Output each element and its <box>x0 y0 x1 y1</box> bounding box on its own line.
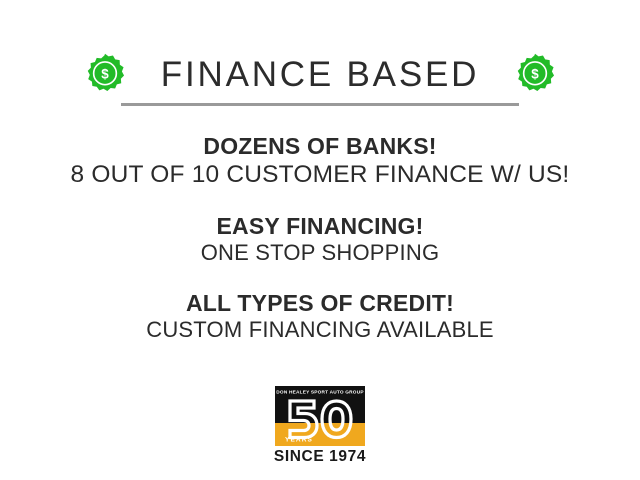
message-block-credit: ALL TYPES OF CREDIT! CUSTOM FINANCING AV… <box>0 289 640 344</box>
message-block-easy-financing: EASY FINANCING! ONE STOP SHOPPING <box>0 212 640 267</box>
anniversary-badge-graphic: DON HEALEY SPORT AUTO GROUP YEARS <box>275 386 365 446</box>
block-heading: EASY FINANCING! <box>0 212 640 240</box>
svg-text:$: $ <box>531 67 539 82</box>
finance-based-slide: $ FINANCE BASED $ DOZENS OF BANKS! 8 OUT… <box>0 0 640 480</box>
block-heading: ALL TYPES OF CREDIT! <box>0 289 640 317</box>
block-heading: DOZENS OF BANKS! <box>0 132 640 160</box>
title-divider <box>121 103 519 106</box>
badge-years-label: YEARS <box>285 437 313 444</box>
dealer-logo: DON HEALEY SPORT AUTO GROUP YEARS SINCE … <box>0 386 640 465</box>
block-subline: ONE STOP SHOPPING <box>0 240 640 267</box>
block-subline: CUSTOM FINANCING AVAILABLE <box>0 317 640 344</box>
message-block-banks: DOZENS OF BANKS! 8 OUT OF 10 CUSTOMER FI… <box>0 132 640 190</box>
anniversary-badge: DON HEALEY SPORT AUTO GROUP YEARS <box>275 386 365 446</box>
since-text: SINCE 1974 <box>274 449 366 465</box>
block-subline: 8 OUT OF 10 CUSTOMER FINANCE W/ US! <box>0 160 640 190</box>
money-gear-icon: $ <box>513 52 557 96</box>
badge-group-name: DON HEALEY SPORT AUTO GROUP <box>276 390 363 396</box>
message-stack: DOZENS OF BANKS! 8 OUT OF 10 CUSTOMER FI… <box>0 132 640 344</box>
svg-text:$: $ <box>101 67 109 82</box>
page-title: FINANCE BASED <box>127 57 513 92</box>
slide-header: $ FINANCE BASED $ <box>0 44 640 104</box>
money-gear-icon: $ <box>83 52 127 96</box>
